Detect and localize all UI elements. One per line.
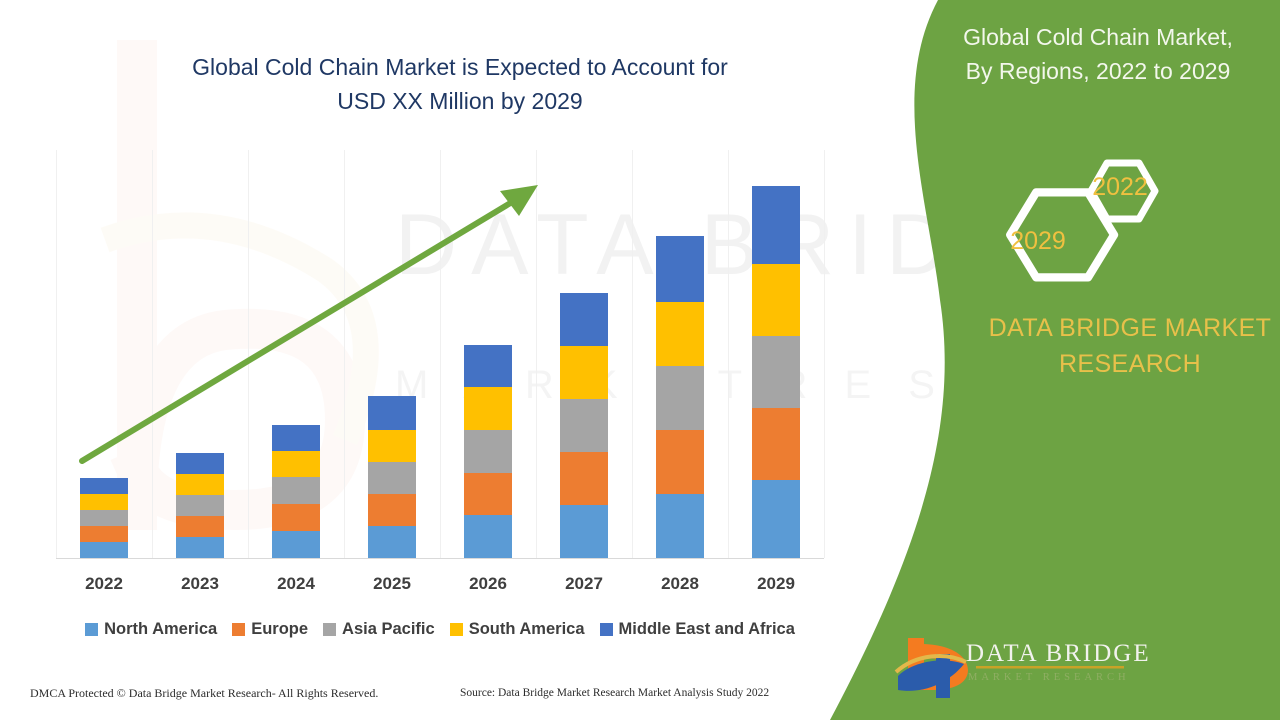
bar-segment[interactable] xyxy=(368,494,416,526)
legend-label: North America xyxy=(104,620,217,639)
bar-segment[interactable] xyxy=(560,399,608,452)
logo-wordmark: DATA BRIDGE xyxy=(966,640,1151,668)
bar-segment[interactable] xyxy=(368,396,416,430)
legend-label: South America xyxy=(469,620,585,639)
bar-segment[interactable] xyxy=(656,236,704,302)
bar-segment[interactable] xyxy=(752,264,800,336)
x-axis-label-2029: 2029 xyxy=(728,574,824,594)
bar-segment[interactable] xyxy=(80,494,128,510)
bar-segment[interactable] xyxy=(176,537,224,558)
bar-2028[interactable] xyxy=(656,236,704,558)
panel-brand-line-1: DATA BRIDGE MARKET xyxy=(960,310,1280,346)
bar-segment[interactable] xyxy=(656,302,704,366)
footer-source: Source: Data Bridge Market Research Mark… xyxy=(460,687,769,699)
x-axis-label-2022: 2022 xyxy=(56,574,152,594)
legend-item[interactable]: North America xyxy=(85,620,217,639)
panel-brand: DATA BRIDGE MARKET RESEARCH xyxy=(960,310,1280,382)
bar-segment[interactable] xyxy=(176,495,224,516)
bar-segment[interactable] xyxy=(464,345,512,387)
legend-label: Middle East and Africa xyxy=(619,620,795,639)
bar-2025[interactable] xyxy=(368,396,416,558)
bar-segment[interactable] xyxy=(560,505,608,558)
chart-legend: North AmericaEuropeAsia PacificSouth Ame… xyxy=(56,616,824,642)
bar-2029[interactable] xyxy=(752,186,800,558)
page-title: Global Cold Chain Market is Expected to … xyxy=(120,50,800,118)
hexagon-year-2029: 2029 xyxy=(993,227,1083,256)
hexagon-outlines-icon xyxy=(985,145,1185,295)
bar-segment[interactable] xyxy=(368,430,416,462)
bar-segment[interactable] xyxy=(656,366,704,430)
bar-segment[interactable] xyxy=(176,453,224,474)
gridline xyxy=(248,150,249,558)
bar-segment[interactable] xyxy=(80,526,128,542)
bar-segment[interactable] xyxy=(560,452,608,505)
panel-title-line-2: By Regions, 2022 to 2029 xyxy=(928,54,1268,88)
gridline xyxy=(536,150,537,558)
x-axis-label-2028: 2028 xyxy=(632,574,728,594)
bar-2024[interactable] xyxy=(272,425,320,558)
bar-segment[interactable] xyxy=(464,473,512,515)
legend-swatch-icon xyxy=(450,623,463,636)
legend-label: Europe xyxy=(251,620,308,639)
legend-swatch-icon xyxy=(323,623,336,636)
bar-segment[interactable] xyxy=(560,293,608,346)
page-title-line-1: Global Cold Chain Market is Expected to … xyxy=(120,50,800,84)
legend-swatch-icon xyxy=(232,623,245,636)
bar-segment[interactable] xyxy=(752,186,800,264)
bar-segment[interactable] xyxy=(464,387,512,430)
legend-item[interactable]: Asia Pacific xyxy=(323,620,435,639)
bar-segment[interactable] xyxy=(272,504,320,531)
x-axis-label-2024: 2024 xyxy=(248,574,344,594)
hexagon-group: 2022 2029 xyxy=(985,145,1185,295)
bar-segment[interactable] xyxy=(752,480,800,558)
panel-brand-line-2: RESEARCH xyxy=(960,346,1280,382)
bar-segment[interactable] xyxy=(752,336,800,408)
bar-segment[interactable] xyxy=(560,346,608,399)
x-axis-label-2027: 2027 xyxy=(536,574,632,594)
infographic-slide: DATA BRIDGE M A R K E T R E S E A R C H … xyxy=(0,0,1280,720)
x-axis-label-2025: 2025 xyxy=(344,574,440,594)
bar-segment[interactable] xyxy=(464,515,512,558)
bar-segment[interactable] xyxy=(176,516,224,537)
x-axis-label-2026: 2026 xyxy=(440,574,536,594)
bar-segment[interactable] xyxy=(176,474,224,495)
bar-segment[interactable] xyxy=(368,462,416,494)
footer-copyright: DMCA Protected © Data Bridge Market Rese… xyxy=(30,686,378,701)
gridline xyxy=(632,150,633,558)
gridline xyxy=(728,150,729,558)
hexagon-year-2022: 2022 xyxy=(1080,173,1160,202)
bar-segment[interactable] xyxy=(80,510,128,526)
legend-item[interactable]: South America xyxy=(450,620,585,639)
bar-segment[interactable] xyxy=(272,531,320,558)
bar-segment[interactable] xyxy=(80,478,128,494)
legend-swatch-icon xyxy=(600,623,613,636)
page-title-line-2: USD XX Million by 2029 xyxy=(120,84,800,118)
bar-segment[interactable] xyxy=(80,542,128,558)
gridline xyxy=(824,150,825,558)
gridline xyxy=(344,150,345,558)
bar-segment[interactable] xyxy=(656,494,704,558)
bar-2022[interactable] xyxy=(80,478,128,558)
panel-title: Global Cold Chain Market, By Regions, 20… xyxy=(928,20,1268,88)
chart-baseline xyxy=(56,558,824,559)
bar-segment[interactable] xyxy=(272,451,320,477)
bar-2023[interactable] xyxy=(176,453,224,558)
bar-segment[interactable] xyxy=(272,477,320,504)
x-axis-label-2023: 2023 xyxy=(152,574,248,594)
legend-label: Asia Pacific xyxy=(342,620,435,639)
panel-title-line-1: Global Cold Chain Market, xyxy=(928,20,1268,54)
bar-segment[interactable] xyxy=(464,430,512,473)
bar-segment[interactable] xyxy=(656,430,704,494)
legend-item[interactable]: Europe xyxy=(232,620,308,639)
bar-segment[interactable] xyxy=(272,425,320,451)
bar-segment[interactable] xyxy=(752,408,800,480)
watermark-line-1: DATA BRIDGE xyxy=(395,175,1015,315)
gridline xyxy=(440,150,441,558)
gridline xyxy=(56,150,57,558)
gridline xyxy=(152,150,153,558)
legend-swatch-icon xyxy=(85,623,98,636)
bar-2027[interactable] xyxy=(560,293,608,558)
logo-tagline: MARKET RESEARCH xyxy=(968,672,1130,683)
bar-segment[interactable] xyxy=(368,526,416,558)
legend-item[interactable]: Middle East and Africa xyxy=(600,620,795,639)
bar-2026[interactable] xyxy=(464,345,512,558)
